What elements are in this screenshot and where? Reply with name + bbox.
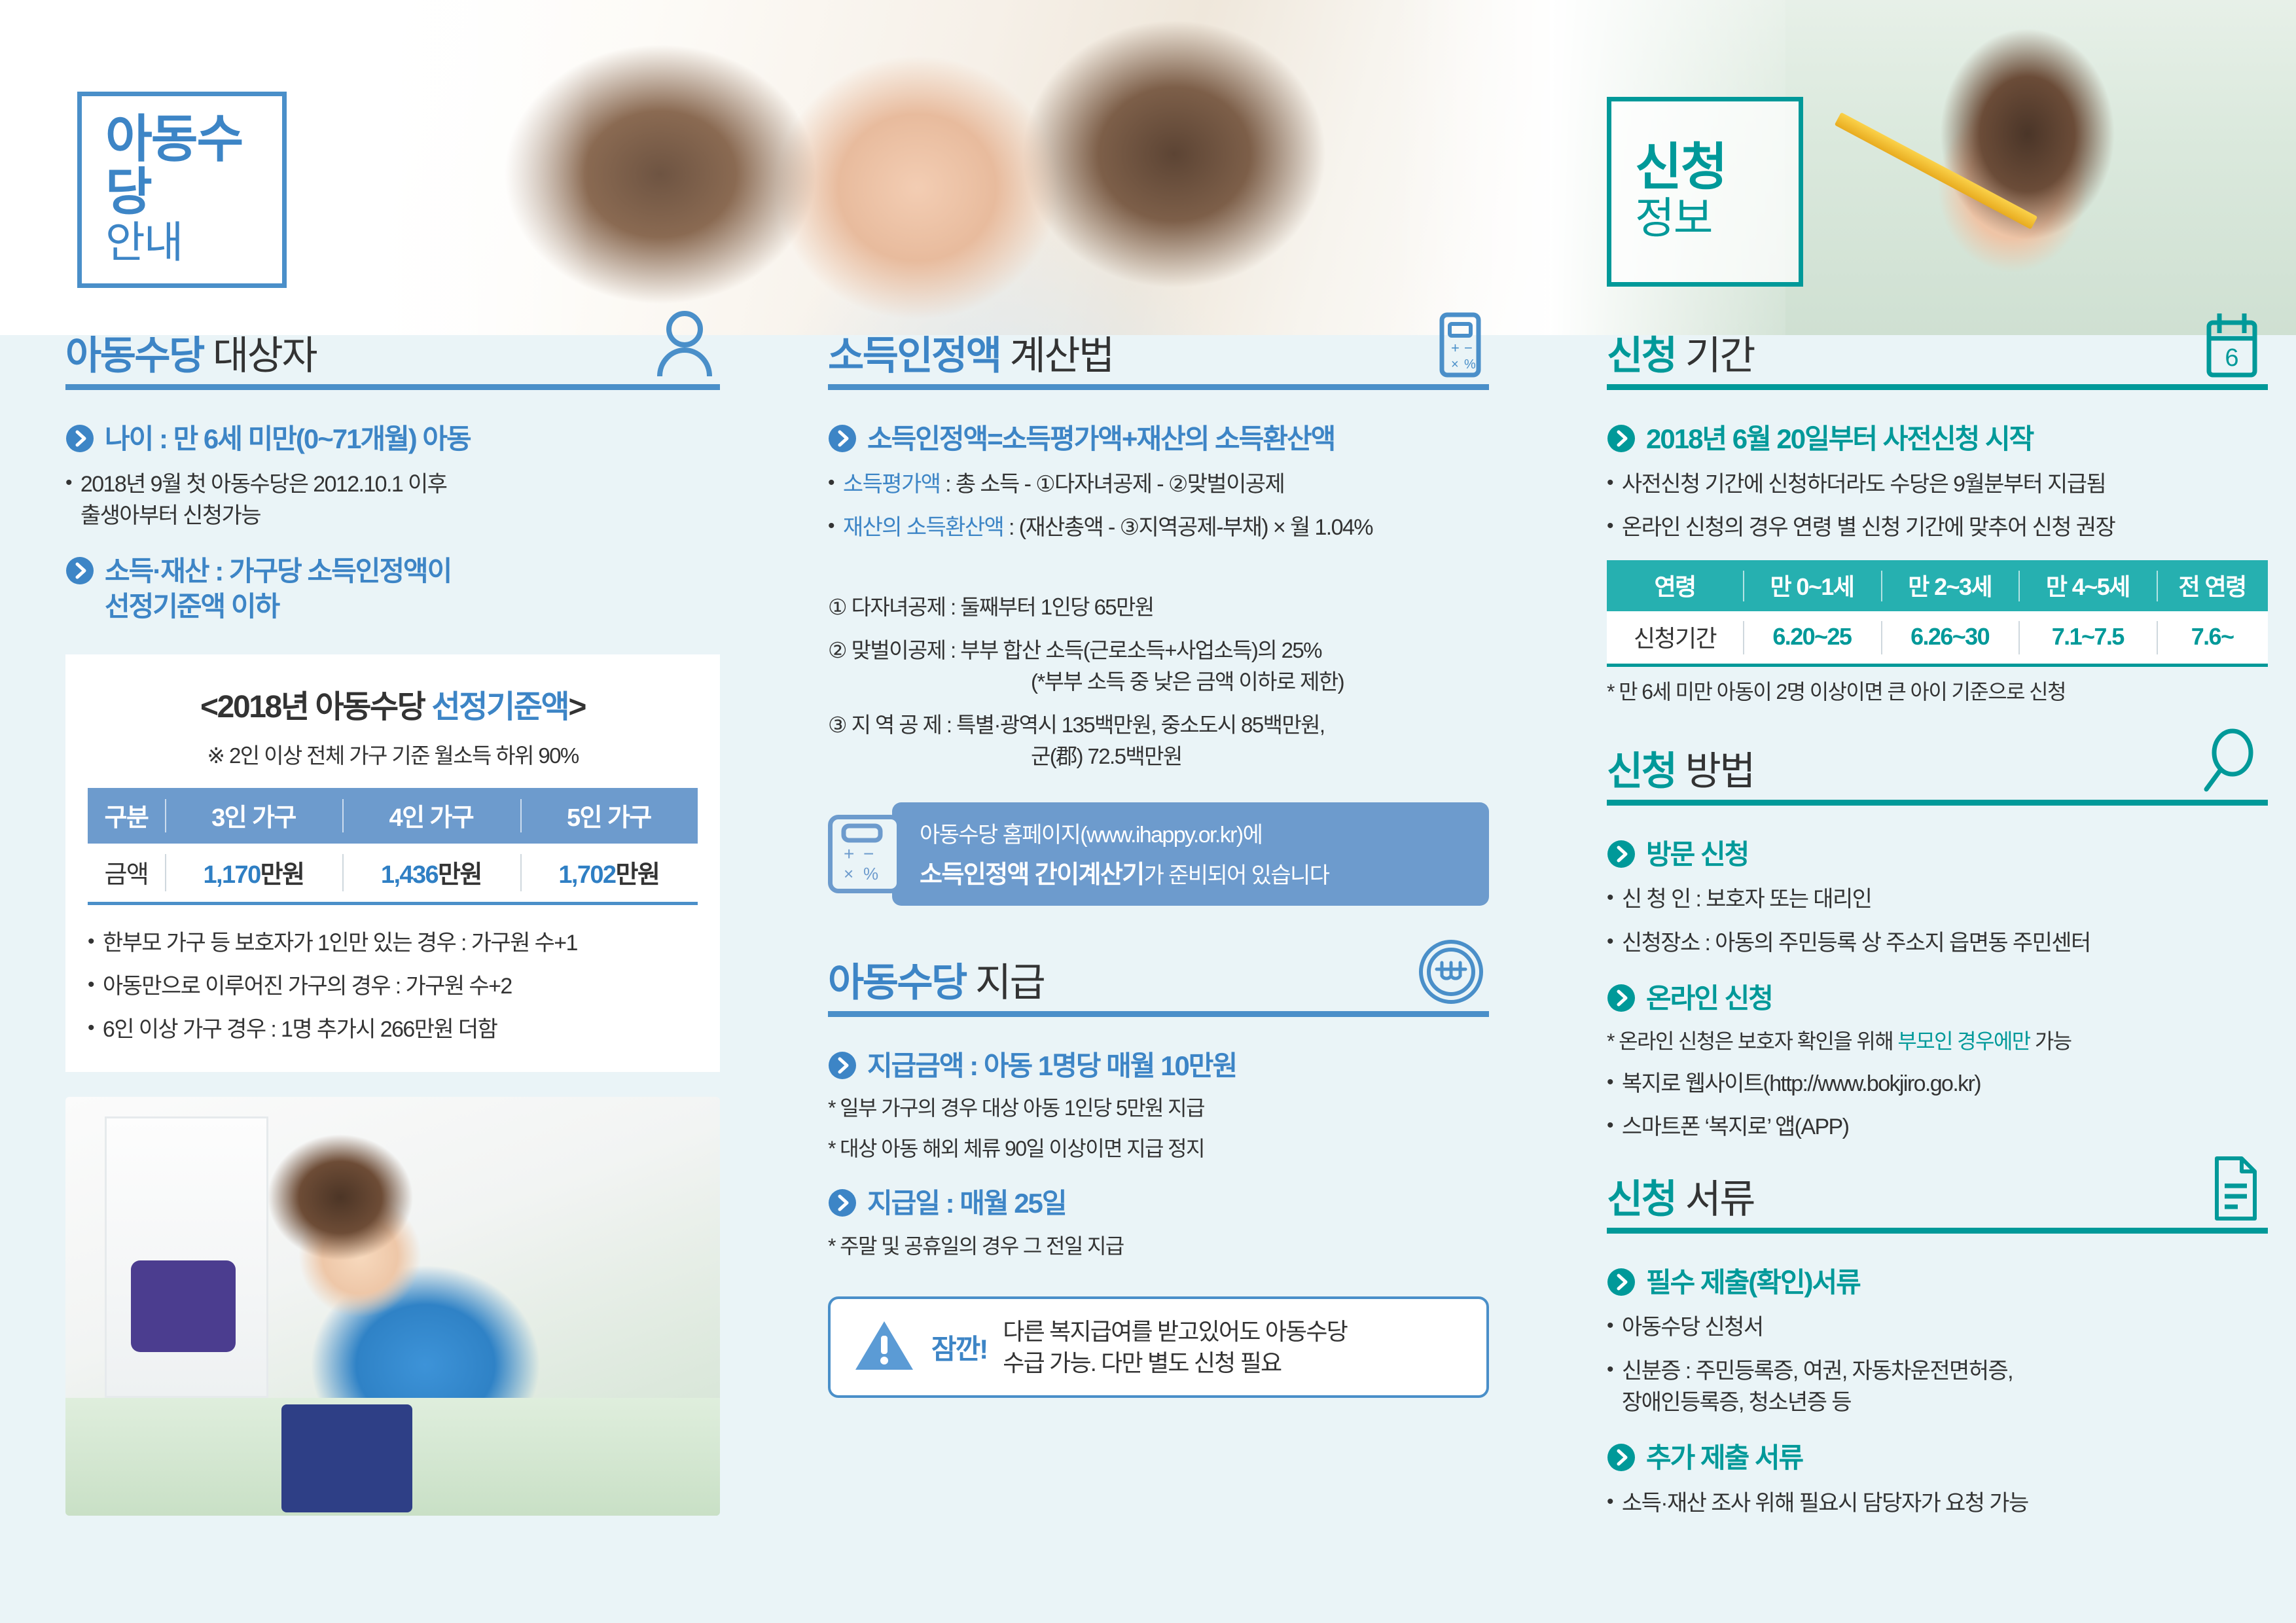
deduction-note-0: ① 다자녀공제 : 둘째부터 1인당 65만원 [828, 592, 1489, 623]
criteria-card-subtitle: ※ 2인 이상 전체 가구 기준 월소득 하위 90% [88, 738, 698, 770]
section-rule [1607, 1228, 2268, 1234]
criteria-note-2: 6인 이상 가구 경우 : 1명 추가시 266만원 더함 [103, 1014, 497, 1045]
bullet-dot-icon: • [828, 469, 834, 497]
required-doc-line-b: 장애인등록증, 청소년증 등 [1622, 1390, 1851, 1415]
visit-application-title: 방문 신청 [1646, 837, 1748, 872]
crit-value-0: 1,170 [204, 861, 260, 889]
chevron-right-icon [1607, 424, 1636, 456]
required-docs-item: 필수 제출(확인)서류 [1607, 1265, 2268, 1300]
period-note-text-1: 온라인 신청의 경우 연령 별 신청 기간에 맞추어 신청 권장 [1622, 512, 2115, 543]
bullet-dot-icon: • [88, 927, 94, 956]
warning-line1: 다른 복지급여를 받고있어도 아동수당 [1003, 1318, 1347, 1345]
online-star-pre: * 온라인 신청은 보호자 확인을 위해 [1607, 1029, 1897, 1053]
online-application-title: 온라인 신청 [1646, 981, 1772, 1016]
table-row: 금액 1,170만원 1,436만원 1,702만원 [88, 844, 698, 904]
svg-text:%: % [1464, 357, 1476, 372]
hero-banner: 아동수당 안내 신청 정보 [0, 0, 2296, 335]
formula-item: 소득인정액=소득평가액+재산의 소득환산액 [828, 421, 1489, 457]
online-note-1: •스마트폰 ‘복지로’ 앱(APP) [1607, 1111, 2268, 1143]
income-title-line2: 선정기준액 이하 [105, 591, 279, 622]
section-header-eligibility: 아동수당 대상자 [65, 335, 720, 399]
age-value-0: 6.20~25 [1772, 623, 1851, 650]
won-coin-icon [1417, 938, 1485, 1009]
required-doc-text-1: 신분증 : 주민등록증, 여권, 자동차운전면허증, 장애인등록증, 청소년증 … [1622, 1355, 2013, 1419]
chevron-right-icon [828, 1188, 857, 1221]
child-playing-photo [65, 1097, 720, 1516]
criteria-title-pre: <2018년 아동수당 [200, 690, 432, 724]
warning-text: 다른 복지급여를 받고있어도 아동수당 수급 가능. 다만 별도 신청 필요 [1003, 1316, 1347, 1378]
svg-text:+: + [844, 844, 854, 864]
period-note-0: •사전신청 기간에 신청하더라도 수당은 9월분부터 지급됨 [1607, 469, 2268, 500]
section-title-calculation: 소득인정액 계산법 [828, 335, 1489, 376]
visit-note-1: •신청장소 : 아동의 주민등록 상 주소지 읍면동 주민센터 [1607, 927, 2268, 959]
required-doc-1: • 신분증 : 주민등록증, 여권, 자동차운전면허증, 장애인등록증, 청소년… [1607, 1355, 2268, 1419]
note-number-1: ② [828, 638, 846, 662]
note-line2: 출생아부터 신청가능 [81, 503, 260, 528]
note-label-1: 맞벌이공제 [852, 638, 946, 662]
criteria-notes: •한부모 가구 등 보호자가 1인만 있는 경우 : 가구원 수+1 •아동만으… [88, 927, 698, 1046]
section-header-payment: 아동수당 지급 [828, 962, 1489, 1026]
column-eligibility: 아동수당 대상자 나이 : 만 6세 미만(0~71개월) 아동 • [65, 335, 720, 1516]
calendar-number: 6 [2225, 344, 2238, 372]
criteria-card-title: <2018년 아동수당 선정기준액> [88, 681, 698, 726]
income-title-line1: 소득·재산 : 가구당 소득인정액이 [105, 556, 451, 586]
list-item: •아동만으로 이루어진 가구의 경우 : 가구원 수+2 [88, 971, 698, 1002]
crit-unit-1: 만원 [438, 861, 482, 889]
section-title-documents: 신청 서류 [1607, 1179, 2268, 1220]
callout-line1: 아동수당 홈페이지(www.ihappy.or.kr)에 [920, 817, 1476, 849]
chevron-right-icon [1607, 984, 1636, 1016]
shelf-shape [105, 1116, 268, 1398]
column-application: 신청 기간 6 2018년 6월 20일부터 사전신 [1607, 335, 2268, 1519]
storage-bin-shape [281, 1404, 412, 1512]
svg-text:%: % [863, 864, 878, 883]
section-rule [1607, 384, 2268, 390]
section-title-period: 신청 기간 [1607, 335, 2268, 376]
bullet-dot-icon: • [1607, 1068, 1613, 1097]
svg-text:−: − [1464, 340, 1473, 356]
bullet-dot-icon: • [828, 512, 834, 541]
note-text-2: : 특별·광역시 135백만원, 중소도시 85백만원, [941, 713, 1324, 737]
income-eval-label: 소득평가액 [843, 472, 940, 497]
svg-text:−: − [863, 844, 874, 864]
brochure-page: 아동수당 안내 신청 정보 아동수당 대상자 [0, 0, 2296, 1623]
asset-convert-text: 재산의 소득환산액 : (재산총액 - ③지역공제-부채) × 월 1.04% [843, 512, 1372, 543]
bullet-dot-icon: • [1607, 469, 1613, 497]
crit-cell-1: 1,436만원 [342, 844, 520, 904]
online-star-post: 가능 [2030, 1029, 2072, 1053]
section-header-documents: 신청 서류 [1607, 1179, 2268, 1243]
crit-header-3: 5인 가구 [520, 788, 698, 844]
payment-amount-note-0: * 일부 가구의 경우 대상 아동 1인당 5만원 지급 [828, 1094, 1489, 1123]
crit-unit-2: 만원 [615, 861, 659, 889]
crit-value-1: 1,436 [381, 861, 438, 889]
section-title-accent: 소득인정액 [828, 334, 1001, 378]
document-icon [2204, 1154, 2264, 1226]
deduction-note-2: ③ 지 역 공 제 : 특별·광역시 135백만원, 중소도시 85백만원, 군… [828, 709, 1489, 772]
chevron-right-icon [828, 1051, 857, 1083]
note-number-0: ① [828, 595, 846, 619]
income-formula: 소득인정액=소득평가액+재산의 소득환산액 [867, 421, 1335, 457]
bullet-dot-icon: • [88, 1014, 94, 1043]
brochure-title-left: 아동수당 안내 [77, 92, 287, 288]
required-doc-text-0: 아동수당 신청서 [1622, 1311, 1763, 1343]
section-rule [828, 1011, 1489, 1017]
income-eval-text: 소득평가액 : 총 소득 - ①다자녀공제 - ②맞벌이공제 [843, 469, 1284, 500]
age-value-1: 6.26~30 [1910, 623, 1989, 650]
pencil-shape [1835, 112, 2038, 229]
chevron-right-icon [828, 424, 857, 456]
bullet-dot-icon: • [1607, 1111, 1613, 1140]
required-docs-title: 필수 제출(확인)서류 [1646, 1265, 1860, 1300]
eligibility-age-title: 나이 : 만 6세 미만(0~71개월) 아동 [105, 421, 471, 457]
payment-date-item: 지급일 : 매월 25일 [828, 1186, 1489, 1221]
eligibility-age-note: • 2018년 9월 첫 아동수당은 2012.10.1 이후 출생아부터 신청… [65, 469, 720, 532]
chevron-right-icon [65, 556, 94, 588]
title-right-line2: 정보 [1635, 194, 1799, 243]
section-title-rest: 계산법 [1001, 334, 1113, 378]
age-cell-3: 7.6~ [2157, 611, 2268, 666]
online-star-accent: 부모인 경우에만 [1897, 1029, 2030, 1053]
age-value-2: 7.1~7.5 [2052, 623, 2124, 650]
eligibility-age-note-text: 2018년 9월 첫 아동수당은 2012.10.1 이후 출생아부터 신청가능 [81, 469, 446, 532]
payment-amount-item: 지급금액 : 아동 1명당 매월 10만원 [828, 1048, 1489, 1084]
payment-amount-note-1: * 대상 아동 해외 체류 90일 이상이면 지급 정지 [828, 1134, 1489, 1164]
payment-date-title: 지급일 : 매월 25일 [867, 1186, 1066, 1221]
content-columns: 아동수당 대상자 나이 : 만 6세 미만(0~71개월) 아동 • [0, 335, 2296, 1623]
bullet-dot-icon: • [1607, 1355, 1613, 1384]
table-header-row: 구분 3인 가구 4인 가구 5인 가구 [88, 788, 698, 844]
note-line1: 2018년 9월 첫 아동수당은 2012.10.1 이후 [81, 472, 446, 497]
income-eval-rest: : 총 소득 - ①다자녀공제 - ②맞벌이공제 [940, 472, 1284, 497]
income-eval-line: • 소득평가액 : 총 소득 - ①다자녀공제 - ②맞벌이공제 [828, 469, 1489, 500]
extra-doc-text-0: 소득·재산 조사 위해 필요시 담당자가 요청 가능 [1622, 1488, 2028, 1519]
crit-header-1: 3인 가구 [165, 788, 342, 844]
calculator-icon: + − × % [1425, 311, 1485, 382]
storage-bin-shape [131, 1260, 236, 1352]
list-item: •한부모 가구 등 보호자가 1인만 있는 경우 : 가구원 수+1 [88, 927, 698, 959]
crit-cell-0: 1,170만원 [165, 844, 342, 904]
payment-date-note-0: * 주말 및 공휴일의 경우 그 전일 지급 [828, 1232, 1489, 1261]
eligibility-age-item: 나이 : 만 6세 미만(0~71개월) 아동 [65, 421, 720, 457]
note-text-1: : 부부 합산 소득(근로소득+사업소득)의 25% [945, 638, 1321, 662]
bullet-dot-icon: • [1607, 883, 1613, 912]
age-header-2: 만 2~3세 [1881, 560, 2019, 611]
online-note-text-1: 스마트폰 ‘복지로’ 앱(APP) [1622, 1111, 1848, 1143]
asset-convert-line: • 재산의 소득환산액 : (재산총액 - ③지역공제-부채) × 월 1.04… [828, 512, 1489, 543]
eligibility-income-item: 소득·재산 : 가구당 소득인정액이 선정기준액 이하 [65, 554, 720, 624]
note-label-2: 지 역 공 제 [852, 713, 942, 737]
magnifier-icon [2198, 726, 2264, 798]
calculator-icon: + − × % [828, 815, 901, 893]
visit-note-text-0: 신 청 인 : 보호자 또는 대리인 [1622, 883, 1871, 915]
list-item: •6인 이상 가구 경우 : 1명 추가시 266만원 더함 [88, 1014, 698, 1045]
section-title-rest: 대상자 [204, 334, 316, 378]
extra-docs-item: 추가 제출 서류 [1607, 1440, 2268, 1476]
note-text-0: : 둘째부터 1인당 65만원 [945, 595, 1153, 619]
section-title-payment: 아동수당 지급 [828, 962, 1489, 1003]
bullet-dot-icon: • [1607, 927, 1613, 956]
section-title-method: 신청 방법 [1607, 751, 2268, 792]
eligibility-income-title: 소득·재산 : 가구당 소득인정액이 선정기준액 이하 [105, 554, 451, 624]
section-title-rest: 서류 [1676, 1177, 1754, 1221]
period-note-1: •온라인 신청의 경우 연령 별 신청 기간에 맞추어 신청 권장 [1607, 512, 2268, 543]
age-cell-1: 6.26~30 [1881, 611, 2019, 666]
family-photo [367, 0, 1590, 335]
period-start-item: 2018년 6월 20일부터 사전신청 시작 [1607, 421, 2268, 457]
extra-doc-0: •소득·재산 조사 위해 필요시 담당자가 요청 가능 [1607, 1488, 2268, 1519]
required-doc-line-a: 신분증 : 주민등록증, 여권, 자동차운전면허증, [1622, 1359, 2013, 1383]
age-value-3: 7.6~ [2191, 623, 2234, 650]
title-right-line1: 신청 [1635, 141, 1799, 194]
callout-line2-rest: 가 준비되어 있습니다 [1144, 863, 1329, 888]
note-number-2: ③ [828, 713, 846, 737]
note-sub-2: 군(郡) 72.5백만원 [828, 741, 1489, 772]
age-header-1: 만 0~1세 [1743, 560, 1881, 611]
crit-header-0: 구분 [88, 788, 165, 844]
extra-docs-title: 추가 제출 서류 [1646, 1440, 1803, 1476]
age-cell-2: 7.1~7.5 [2018, 611, 2157, 666]
section-title-accent: 신청 [1607, 749, 1676, 793]
section-title-eligibility: 아동수당 대상자 [65, 335, 720, 376]
payment-amount-title: 지급금액 : 아동 1명당 매월 10만원 [867, 1048, 1236, 1084]
section-header-period: 신청 기간 6 [1607, 335, 2268, 399]
calculator-callout: + − × % 아동수당 홈페이지(www.ihappy.or.kr)에 소득인… [828, 802, 1489, 906]
chevron-right-icon [65, 424, 94, 456]
bullet-dot-icon: • [88, 971, 94, 999]
note-label-0: 다자녀공제 [852, 595, 946, 619]
section-title-accent: 아동수당 [65, 334, 204, 378]
section-rule [65, 384, 720, 390]
section-title-rest: 방법 [1676, 749, 1754, 793]
note-sub-1: (*부부 소득 중 낮은 금액 이하로 제한) [828, 666, 1489, 698]
crit-header-2: 4인 가구 [342, 788, 520, 844]
section-rule [828, 384, 1489, 390]
section-title-rest: 지급 [966, 961, 1045, 1005]
bullet-dot-icon: • [1607, 1488, 1613, 1516]
criteria-card: <2018년 아동수당 선정기준액> ※ 2인 이상 전체 가구 기준 월소득 … [65, 654, 720, 1072]
visit-note-text-1: 신청장소 : 아동의 주민등록 상 주소지 읍면동 주민센터 [1622, 927, 2090, 959]
age-header-0: 연령 [1607, 560, 1743, 611]
age-row-label: 신청기간 [1607, 611, 1743, 666]
crit-value-2: 1,702 [558, 861, 615, 889]
svg-text:×: × [1451, 357, 1459, 372]
brochure-title-right: 신청 정보 [1607, 97, 1803, 287]
warning-line2: 수급 가능. 다만 별도 신청 필요 [1003, 1349, 1281, 1376]
column-calculation: 소득인정액 계산법 + − × % [828, 335, 1489, 1398]
section-title-accent: 신청 [1607, 1177, 1676, 1221]
title-left-line1: 아동수당 [105, 113, 282, 219]
online-note-0: •복지로 웹사이트(http://www.bokjiro.go.kr) [1607, 1068, 2268, 1099]
table-header-row: 연령 만 0~1세 만 2~3세 만 4~5세 전 연령 [1607, 560, 2268, 611]
visit-note-0: •신 청 인 : 보호자 또는 대리인 [1607, 883, 2268, 915]
age-cell-0: 6.20~25 [1743, 611, 1881, 666]
crit-row-label: 금액 [88, 844, 165, 904]
period-start-title: 2018년 6월 20일부터 사전신청 시작 [1646, 421, 2033, 457]
online-star-note: * 온라인 신청은 보호자 확인을 위해 부모인 경우에만 가능 [1607, 1027, 2268, 1056]
required-doc-0: •아동수당 신청서 [1607, 1311, 2268, 1343]
criteria-table: 구분 3인 가구 4인 가구 5인 가구 금액 1,170만원 1,436만원 … [88, 788, 698, 905]
online-note-text-0: 복지로 웹사이트(http://www.bokjiro.go.kr) [1622, 1068, 1981, 1099]
online-application-item: 온라인 신청 [1607, 981, 2268, 1016]
bullet-dot-icon: • [65, 469, 71, 497]
table-row: 신청기간 6.20~25 6.26~30 7.1~7.5 7.6~ [1607, 611, 2268, 666]
age-period-table: 연령 만 0~1세 만 2~3세 만 4~5세 전 연령 신청기간 6.20~2… [1607, 560, 2268, 667]
warning-callout: 잠깐! 다른 복지급여를 받고있어도 아동수당 수급 가능. 다만 별도 신청 … [828, 1296, 1489, 1398]
chevron-right-icon [1607, 1268, 1636, 1300]
age-header-4: 전 연령 [2157, 560, 2268, 611]
title-left-line2: 안내 [105, 219, 282, 267]
person-icon [653, 311, 716, 382]
section-title-accent: 신청 [1607, 334, 1676, 378]
section-title-rest: 기간 [1676, 334, 1754, 378]
bullet-dot-icon: • [1607, 512, 1613, 541]
chevron-right-icon [1607, 840, 1636, 872]
chevron-right-icon [1607, 1443, 1636, 1475]
calendar-icon: 6 [2200, 311, 2264, 382]
warning-triangle-icon [853, 1317, 916, 1377]
period-note-text-0: 사전신청 기간에 신청하더라도 수당은 9월분부터 지급됨 [1622, 469, 2106, 500]
crit-unit-0: 만원 [260, 861, 304, 889]
svg-text:×: × [844, 864, 853, 883]
age-header-3: 만 4~5세 [2018, 560, 2157, 611]
crit-cell-2: 1,702만원 [520, 844, 698, 904]
callout-line2: 소득인정액 간이계산기가 준비되어 있습니다 [920, 854, 1476, 890]
asset-convert-label: 재산의 소득환산액 [843, 515, 1003, 540]
period-footnote: * 만 6세 미만 아동이 2명 이상이면 큰 아이 기준으로 신청 [1607, 677, 2268, 707]
criteria-title-post: > [568, 690, 585, 724]
section-header-calculation: 소득인정액 계산법 + − × % [828, 335, 1489, 399]
section-rule [1607, 800, 2268, 806]
criteria-note-0: 한부모 가구 등 보호자가 1인만 있는 경우 : 가구원 수+1 [103, 927, 577, 959]
callout-text-bar: 아동수당 홈페이지(www.ihappy.or.kr)에 소득인정액 간이계산기… [892, 802, 1489, 906]
svg-text:+: + [1451, 340, 1460, 356]
section-header-method: 신청 방법 [1607, 751, 2268, 815]
criteria-title-accent: 선정기준액 [432, 690, 569, 724]
visit-application-item: 방문 신청 [1607, 837, 2268, 872]
deduction-note-1: ② 맞벌이공제 : 부부 합산 소득(근로소득+사업소득)의 25% (*부부 … [828, 635, 1489, 698]
section-title-accent: 아동수당 [828, 961, 966, 1005]
criteria-note-1: 아동만으로 이루어진 가구의 경우 : 가구원 수+2 [103, 971, 512, 1002]
bullet-dot-icon: • [1607, 1311, 1613, 1340]
asset-convert-rest: : (재산총액 - ③지역공제-부채) × 월 1.04% [1003, 515, 1372, 540]
callout-line2-bold: 소득인정액 간이계산기 [920, 861, 1144, 889]
warning-label: 잠깐! [931, 1327, 987, 1367]
